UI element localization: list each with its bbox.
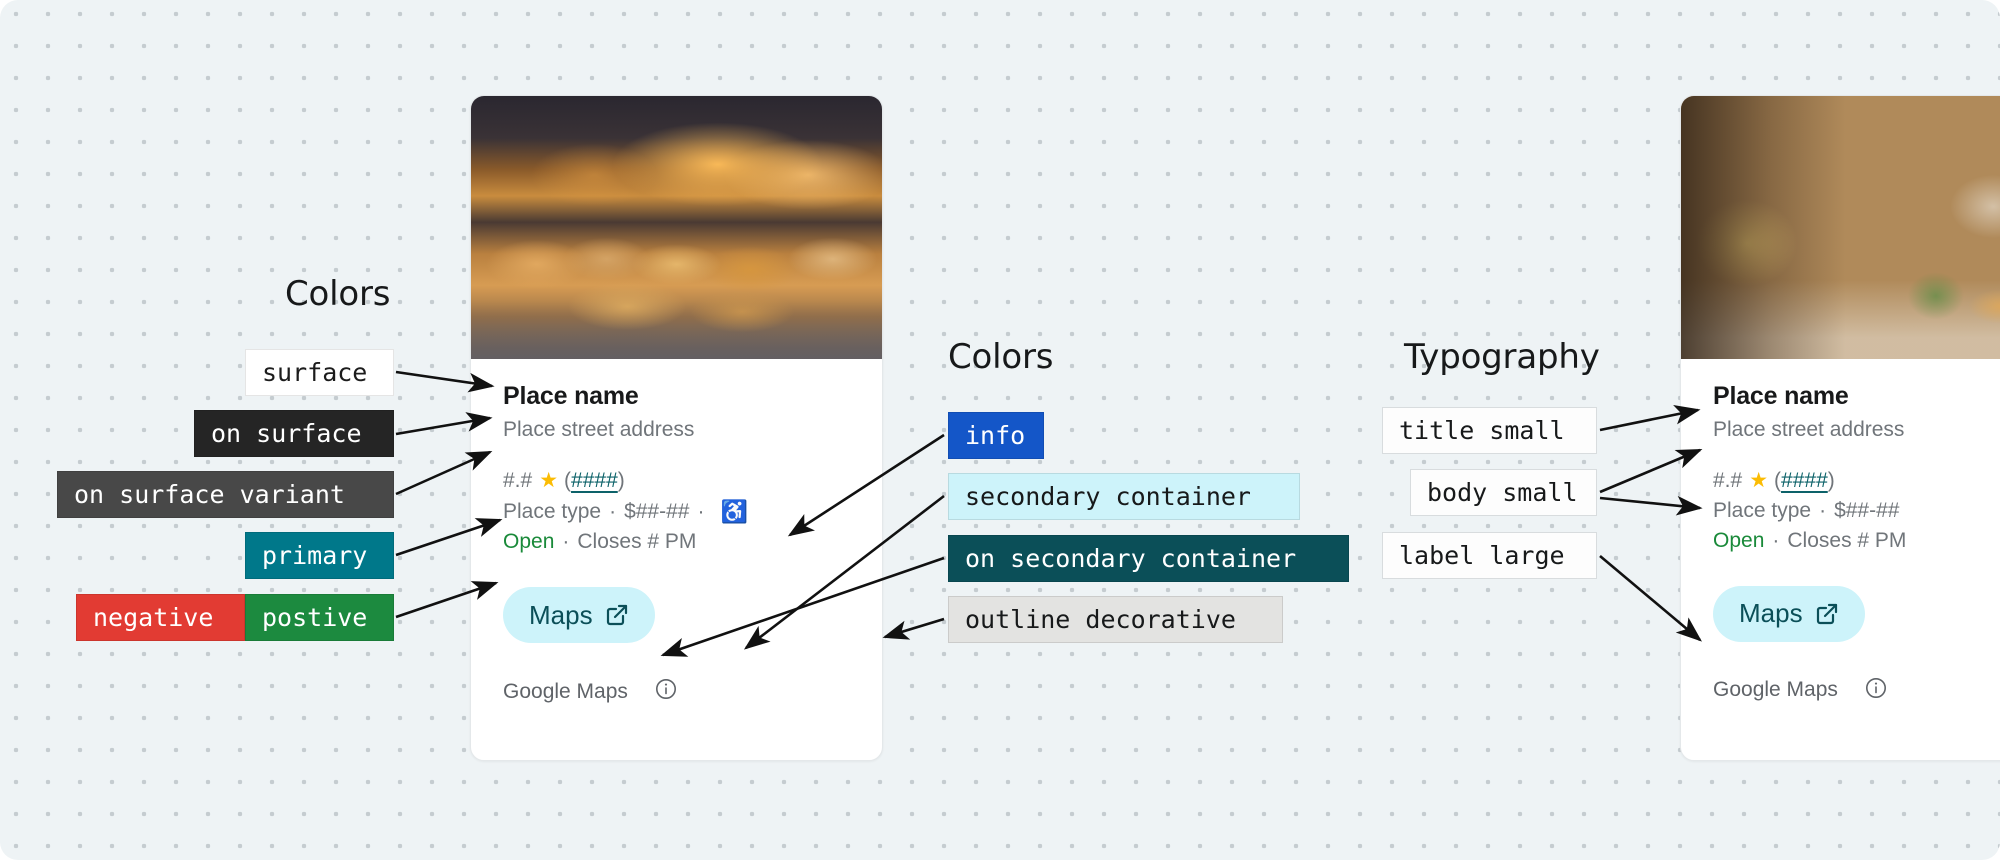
open-status: Open <box>503 527 554 557</box>
separator-dot: · <box>562 527 569 557</box>
swatch-secondary-container[interactable]: secondary container <box>948 473 1300 520</box>
place-price: $##-## <box>624 497 689 527</box>
card-body: Place name Place street address #.# ★ (#… <box>1681 359 2000 642</box>
open-status: Open <box>1713 526 1764 556</box>
hours-row: Open · Closes # PM <box>1713 526 2000 556</box>
hours-row: Open · Closes # PM <box>503 527 850 557</box>
rating-count-link[interactable]: #### <box>1781 466 1828 496</box>
separator-dot: · <box>1772 526 1779 556</box>
bakery-pastries-photo <box>471 96 882 359</box>
type-price-row: Place type · $##-## · ♿ <box>503 496 850 527</box>
rating-row: #.# ★ (####) <box>1713 466 2000 496</box>
place-name: Place name <box>503 381 850 411</box>
swatch-label: on surface <box>211 421 362 446</box>
card-footer: Google Maps <box>471 643 882 732</box>
rating-close-paren: ) <box>618 466 625 496</box>
design-annotation-canvas: Colors Colors Typography surface on surf… <box>0 0 2000 860</box>
swatch-label: on secondary container <box>965 546 1296 571</box>
external-link-icon <box>605 603 629 627</box>
wheelchair-icon: ♿ <box>720 496 747 527</box>
place-address: Place street address <box>1713 416 2000 444</box>
swatch-label: secondary container <box>965 484 1251 509</box>
swatch-info[interactable]: info <box>948 412 1044 459</box>
section-title-typography: Typography <box>1404 337 1600 377</box>
swatch-label: info <box>965 423 1025 448</box>
swatch-postive[interactable]: postive <box>245 594 394 641</box>
rating-value: #.# <box>503 466 532 496</box>
swatch-on-surface[interactable]: on surface <box>194 410 394 457</box>
type-price-row: Place type · $##-## <box>1713 496 2000 526</box>
info-icon[interactable] <box>654 677 678 706</box>
info-icon[interactable] <box>1864 676 1888 705</box>
star-icon: ★ <box>539 466 558 496</box>
closing-time: Closes # PM <box>577 527 696 557</box>
closing-time: Closes # PM <box>1787 526 1906 556</box>
section-title-colors-left: Colors <box>285 274 390 314</box>
swatch-label: negative <box>93 605 213 630</box>
card-footer: Google Maps <box>1681 642 2000 731</box>
swatch-label: surface <box>262 360 367 385</box>
swatch-label: body small <box>1427 480 1578 505</box>
rating-row: #.# ★ (####) <box>503 466 850 496</box>
cafe-interior-photo <box>1681 96 2000 359</box>
rating-close-paren: ) <box>1828 466 1835 496</box>
section-title-colors-mid: Colors <box>948 337 1053 377</box>
place-type: Place type <box>1713 496 1811 526</box>
separator-dot: · <box>609 497 616 527</box>
rating-value: #.# <box>1713 466 1742 496</box>
rating-open-paren: ( <box>564 466 571 496</box>
place-meta-block: #.# ★ (####) Place type · $##-## Open · … <box>1713 466 2000 555</box>
place-meta-block: #.# ★ (####) Place type · $##-## · ♿ Ope… <box>503 466 850 557</box>
card-body: Place name Place street address #.# ★ (#… <box>471 359 882 643</box>
separator-dot: · <box>1819 496 1826 526</box>
swatch-negative[interactable]: negative <box>76 594 245 641</box>
swatch-label: primary <box>262 543 367 568</box>
place-card-center[interactable]: Place name Place street address #.# ★ (#… <box>470 95 883 761</box>
maps-button-label: Maps <box>1739 598 1803 629</box>
separator-dot: · <box>697 497 704 527</box>
rating-count-link[interactable]: #### <box>571 466 618 496</box>
place-name: Place name <box>1713 381 2000 411</box>
place-type: Place type <box>503 497 601 527</box>
swatch-outline-decorative[interactable]: outline decorative <box>948 596 1283 643</box>
swatch-label-large[interactable]: label large <box>1382 532 1597 579</box>
swatch-label: label large <box>1399 543 1565 568</box>
swatch-on-secondary-container[interactable]: on secondary container <box>948 535 1349 582</box>
place-price: $##-## <box>1834 496 1899 526</box>
google-maps-attribution: Google Maps <box>503 680 628 704</box>
place-card-right[interactable]: Place name Place street address #.# ★ (#… <box>1680 95 2000 761</box>
place-address: Place street address <box>503 416 850 444</box>
swatch-body-small[interactable]: body small <box>1410 469 1597 516</box>
star-icon: ★ <box>1749 466 1768 496</box>
swatch-on-surface-variant[interactable]: on surface variant <box>57 471 394 518</box>
external-link-icon <box>1815 602 1839 626</box>
swatch-title-small[interactable]: title small <box>1382 407 1597 454</box>
swatch-primary[interactable]: primary <box>245 532 394 579</box>
rating-open-paren: ( <box>1774 466 1781 496</box>
maps-button[interactable]: Maps <box>503 587 655 643</box>
swatch-label: outline decorative <box>965 607 1236 632</box>
maps-button-label: Maps <box>529 600 593 631</box>
swatch-surface[interactable]: surface <box>245 349 394 396</box>
swatch-label: postive <box>262 605 367 630</box>
swatch-label: on surface variant <box>74 482 345 507</box>
swatch-label: title small <box>1399 418 1565 443</box>
google-maps-attribution: Google Maps <box>1713 678 1838 702</box>
maps-button[interactable]: Maps <box>1713 586 1865 642</box>
